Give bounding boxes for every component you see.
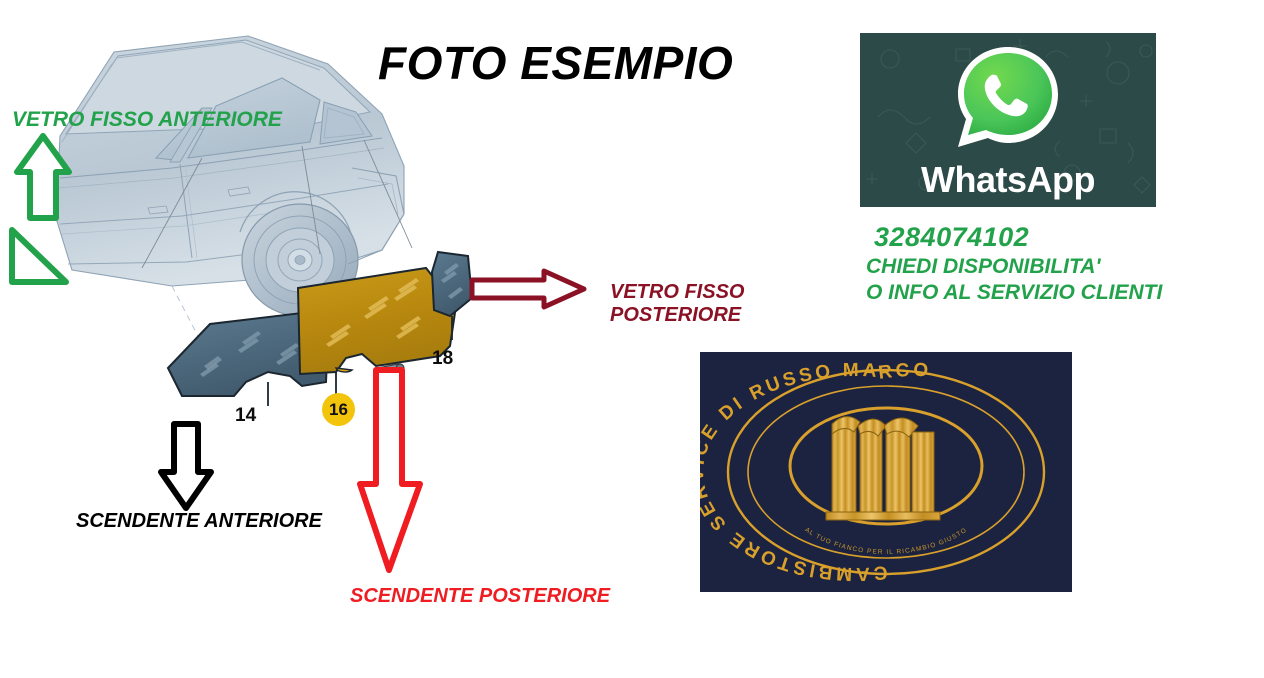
contact-line-1: CHIEDI DISPONIBILITA' bbox=[866, 255, 1162, 279]
label-vetro-fisso-posteriore: VETRO FISSO POSTERIORE bbox=[610, 281, 744, 327]
shop-logo: MRICAMBISTORE SERVICE DI RUSSO MARCO AL … bbox=[700, 352, 1072, 592]
whatsapp-banner: WhatsApp bbox=[860, 33, 1156, 207]
down-arrow-black-icon bbox=[156, 420, 216, 512]
shop-logo-graphic: MRICAMBISTORE SERVICE DI RUSSO MARCO AL … bbox=[700, 352, 1072, 592]
page-title: FOTO ESEMPIO bbox=[378, 36, 733, 90]
up-arrow-green-icon bbox=[12, 132, 76, 224]
part-callout-badge-16: 16 bbox=[322, 393, 355, 426]
label-vetro-fisso-posteriore-line2: POSTERIORE bbox=[610, 304, 744, 327]
part-number-18: 18 bbox=[432, 348, 453, 370]
contact-block: 3284074102 CHIEDI DISPONIBILITA' O INFO … bbox=[866, 222, 1162, 305]
label-scendente-anteriore: SCENDENTE ANTERIORE bbox=[76, 510, 322, 533]
contact-phone-number[interactable]: 3284074102 bbox=[866, 222, 1162, 253]
part-number-14: 14 bbox=[235, 405, 256, 427]
label-vetro-fisso-anteriore: VETRO FISSO ANTERIORE bbox=[12, 108, 282, 132]
whatsapp-wordmark: WhatsApp bbox=[860, 159, 1156, 201]
label-vetro-fisso-posteriore-line1: VETRO FISSO bbox=[610, 281, 744, 304]
down-arrow-red-icon bbox=[356, 366, 426, 576]
screenshot-root: 16 14 17 18 FOTO ESEMPIO VETRO FISSO ANT… bbox=[0, 0, 1264, 678]
label-scendente-posteriore: SCENDENTE POSTERIORE bbox=[350, 585, 610, 608]
contact-line-2: O INFO AL SERVIZIO CLIENTI bbox=[866, 281, 1162, 305]
right-arrow-darkred-icon bbox=[468, 267, 588, 311]
whatsapp-icon bbox=[952, 41, 1064, 153]
triangle-green-icon bbox=[6, 226, 72, 288]
